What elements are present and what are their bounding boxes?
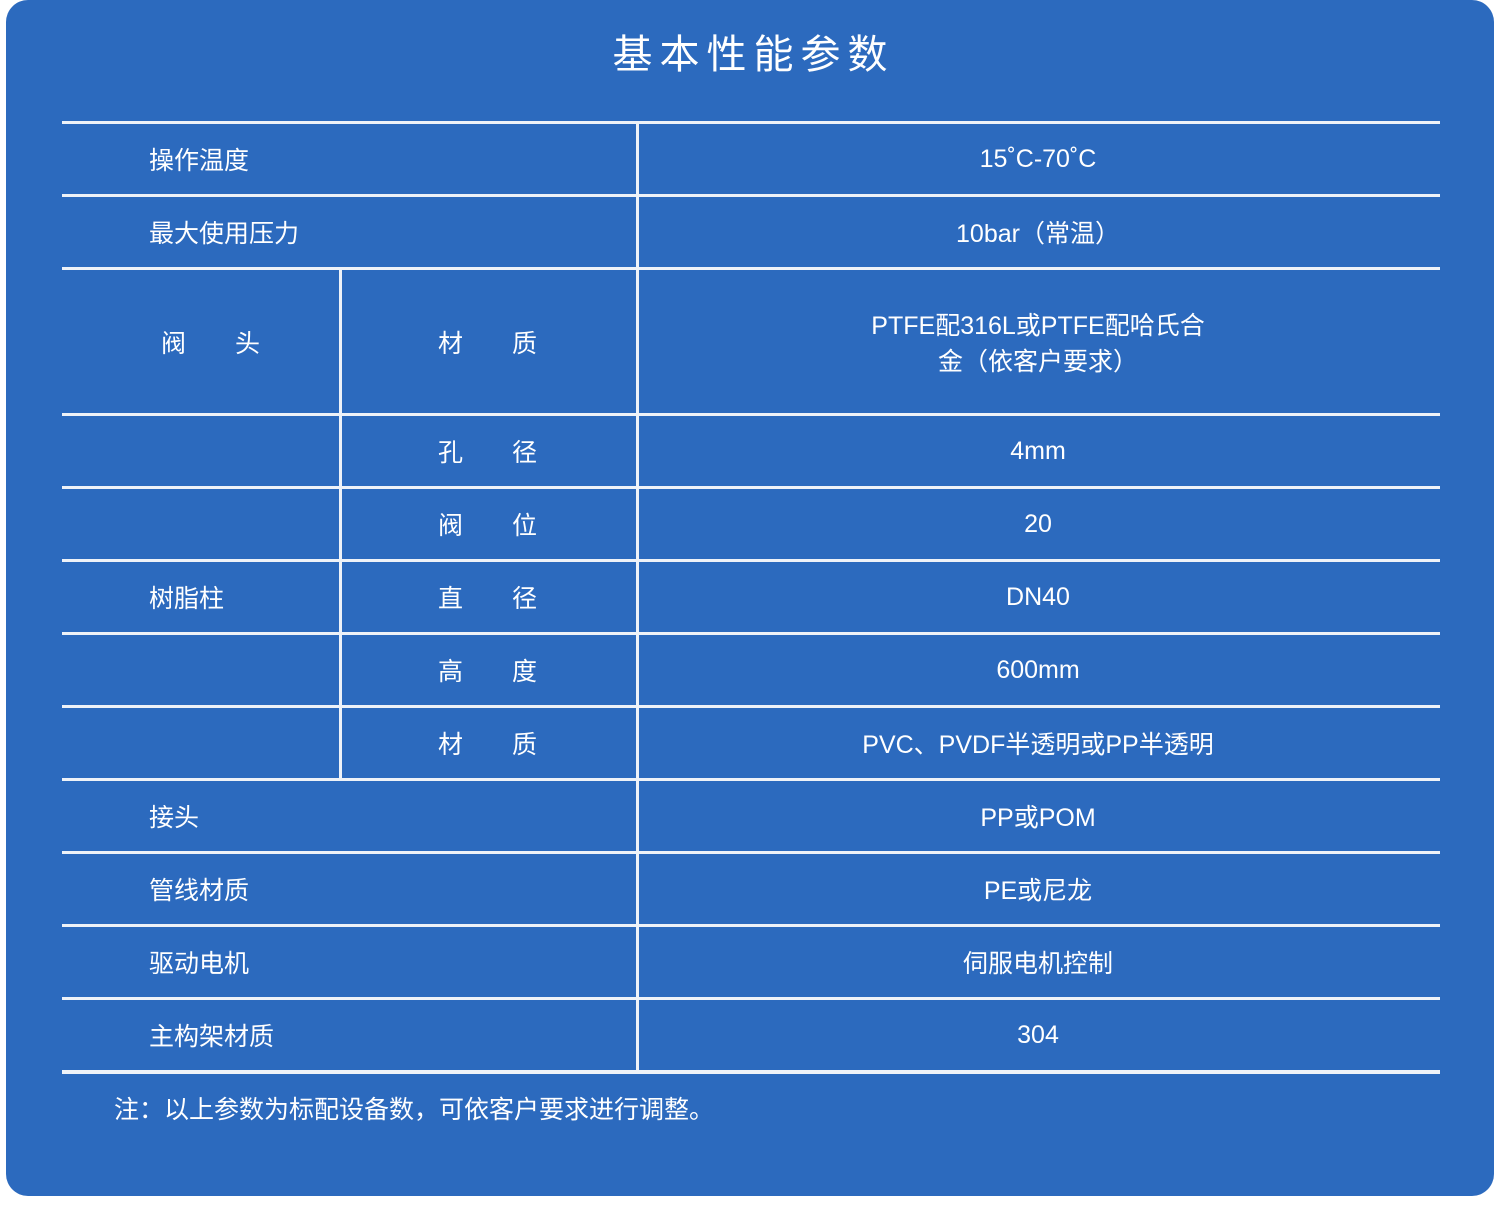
table-row: 操作温度15˚C-70˚C: [62, 124, 1440, 194]
table-row: 阀 头材 质PTFE配316L或PTFE配哈氏合金（依客户要求）: [62, 270, 1440, 413]
row-value: PE或尼龙: [636, 854, 1440, 924]
row-value-line: 600mm: [996, 656, 1079, 685]
row-label: 树脂柱: [62, 562, 339, 632]
row-value: PP或POM: [636, 781, 1440, 851]
table-row: 高 度600mm: [62, 635, 1440, 705]
row-value-line: PE或尼龙: [984, 871, 1092, 907]
row-sublabel: 阀 位: [339, 489, 636, 559]
row-value-line: 10bar（常温）: [956, 214, 1120, 250]
row-value: 伺服电机控制: [636, 927, 1440, 997]
row-sublabel: 材 质: [339, 708, 636, 778]
row-label: 操作温度: [62, 124, 636, 194]
table-row: 孔 径4mm: [62, 416, 1440, 486]
row-value-line: 伺服电机控制: [963, 944, 1113, 980]
row-value: PVC、PVDF半透明或PP半透明: [636, 708, 1440, 778]
row-label: [62, 416, 339, 486]
row-value: 600mm: [636, 635, 1440, 705]
row-value: 20: [636, 489, 1440, 559]
footnote: 注：以上参数为标配设备数，可依客户要求进行调整。: [114, 1086, 714, 1134]
row-label: 阀 头: [62, 270, 339, 413]
row-label: 接头: [62, 781, 636, 851]
row-sublabel: 高 度: [339, 635, 636, 705]
table-row: 管线材质PE或尼龙: [62, 854, 1440, 924]
row-sublabel: 材 质: [339, 270, 636, 413]
row-value-line: 20: [1024, 510, 1052, 539]
row-divider: [62, 1070, 1440, 1074]
row-sublabel: 直 径: [339, 562, 636, 632]
row-value-line: 4mm: [1010, 437, 1066, 466]
table-row: 最大使用压力10bar（常温）: [62, 197, 1440, 267]
column-divider-sub: [339, 267, 342, 778]
row-value: DN40: [636, 562, 1440, 632]
row-value-line: PP或POM: [980, 798, 1095, 834]
row-value-line: 304: [1017, 1021, 1059, 1050]
row-value: 15˚C-70˚C: [636, 124, 1440, 194]
row-label: 主构架材质: [62, 1000, 636, 1070]
column-divider-main: [636, 121, 639, 1074]
row-label: [62, 635, 339, 705]
row-label: 最大使用压力: [62, 197, 636, 267]
table-row: 阀 位20: [62, 489, 1440, 559]
row-value-line: PTFE配316L或PTFE配哈氏合: [871, 306, 1204, 342]
table-row: 材 质PVC、PVDF半透明或PP半透明: [62, 708, 1440, 778]
table-row: 树脂柱直 径DN40: [62, 562, 1440, 632]
row-label: [62, 489, 339, 559]
row-label: 管线材质: [62, 854, 636, 924]
page-title: 基本性能参数: [6, 26, 1494, 84]
table-row: 主构架材质304: [62, 1000, 1440, 1070]
row-value-line: DN40: [1006, 583, 1070, 612]
row-value: 304: [636, 1000, 1440, 1070]
row-value-line: 15˚C-70˚C: [980, 145, 1097, 174]
row-value-line: PVC、PVDF半透明或PP半透明: [862, 725, 1213, 761]
row-value: PTFE配316L或PTFE配哈氏合金（依客户要求）: [636, 270, 1440, 413]
row-label: [62, 708, 339, 778]
spec-table: 操作温度15˚C-70˚C最大使用压力10bar（常温）阀 头材 质PTFE配3…: [62, 121, 1440, 1074]
row-label: 驱动电机: [62, 927, 636, 997]
row-value-line: 金（依客户要求）: [938, 342, 1138, 378]
row-value: 10bar（常温）: [636, 197, 1440, 267]
row-value: 4mm: [636, 416, 1440, 486]
table-row: 驱动电机伺服电机控制: [62, 927, 1440, 997]
table-row: 接头PP或POM: [62, 781, 1440, 851]
row-sublabel: 孔 径: [339, 416, 636, 486]
spec-panel: 基本性能参数 操作温度15˚C-70˚C最大使用压力10bar（常温）阀 头材 …: [6, 0, 1494, 1196]
